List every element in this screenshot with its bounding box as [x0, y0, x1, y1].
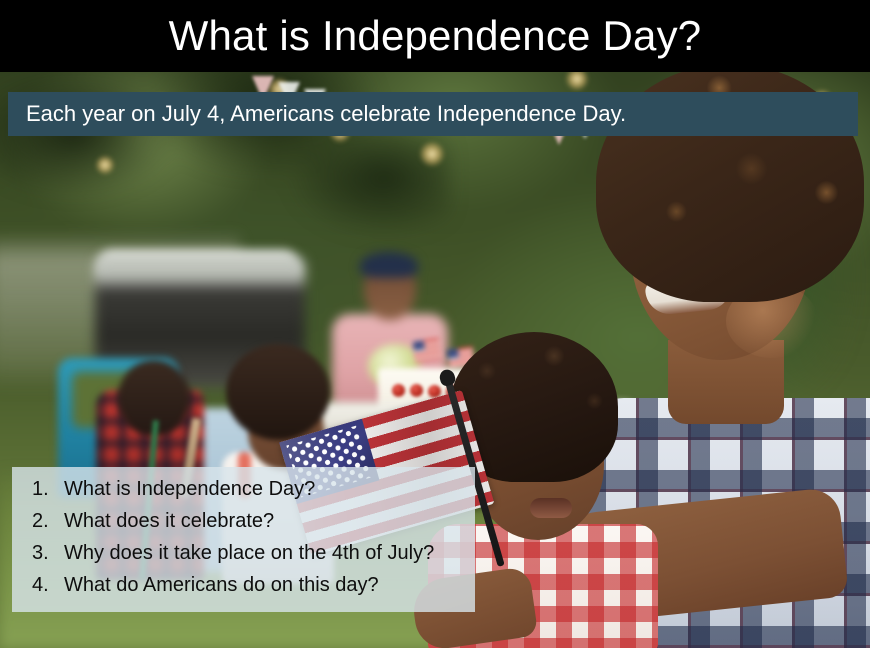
slide-root: What is Independence Day? Each year on J…	[0, 0, 870, 648]
list-item-label: What does it celebrate?	[64, 511, 274, 531]
page-title: What is Independence Day?	[169, 15, 702, 57]
list-item-number: 2.	[32, 511, 64, 531]
subtitle-bar: Each year on July 4, Americans celebrate…	[8, 92, 858, 136]
toddler-mouth	[530, 498, 572, 518]
list-item-number: 3.	[32, 543, 64, 563]
list-item-number: 1.	[32, 479, 64, 499]
title-band: What is Independence Day?	[0, 0, 870, 72]
list-item: 4. What do Americans do on this day?	[12, 575, 475, 607]
list-item: 3. Why does it take place on the 4th of …	[12, 543, 475, 575]
string-light-bulb	[420, 142, 444, 166]
list-item-number: 4.	[32, 575, 64, 595]
question-list-box: 1. What is Independence Day? 2. What doe…	[12, 467, 475, 612]
cake-berry	[392, 384, 405, 397]
list-item-label: What do Americans do on this day?	[64, 575, 379, 595]
list-item-label: Why does it take place on the 4th of Jul…	[64, 543, 434, 563]
string-light-bulb	[96, 156, 114, 174]
list-item: 2. What does it celebrate?	[12, 511, 475, 543]
subtitle-text: Each year on July 4, Americans celebrate…	[26, 103, 626, 125]
list-item-label: What is Independence Day?	[64, 479, 315, 499]
list-item: 1. What is Independence Day?	[12, 479, 475, 511]
